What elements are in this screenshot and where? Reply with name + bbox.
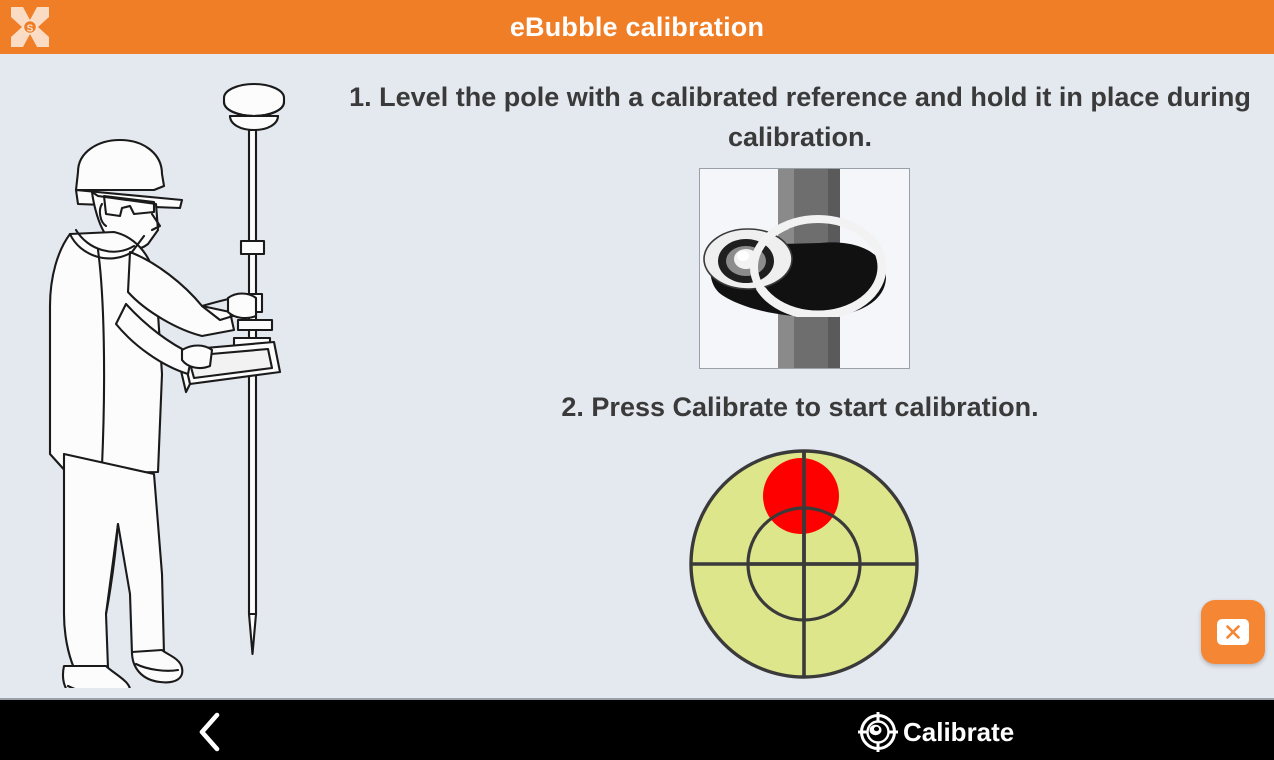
bubble-level-indicator (684, 444, 924, 684)
bubble-clamp-photo (699, 168, 910, 369)
instruction-step-1: 1. Level the pole with a calibrated refe… (330, 78, 1270, 158)
calibrate-target-icon (855, 709, 901, 755)
content-area: 1. Level the pole with a calibrated refe… (0, 54, 1274, 698)
calibrate-label: Calibrate (903, 717, 1014, 748)
title-bar: S eBubble calibration (0, 0, 1274, 54)
surveyor-illustration (6, 54, 326, 688)
close-button[interactable] (1201, 600, 1265, 664)
calibrate-button[interactable]: Calibrate (855, 704, 1014, 760)
svg-text:S: S (27, 24, 34, 35)
ebubble-calibration-screen: S eBubble calibration (0, 0, 1274, 760)
page-title: eBubble calibration (510, 12, 764, 43)
xs-logo-icon: S (6, 4, 54, 50)
close-icon (1217, 619, 1249, 645)
instruction-step-2: 2. Press Calibrate to start calibration. (330, 392, 1270, 423)
bottom-toolbar: Calibrate (0, 698, 1274, 760)
chevron-left-icon (195, 710, 225, 754)
back-button[interactable] (175, 704, 245, 760)
